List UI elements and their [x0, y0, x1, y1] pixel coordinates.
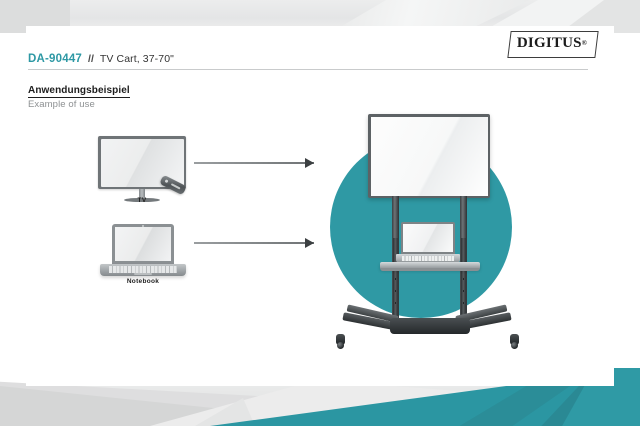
tv-label: TV [98, 197, 186, 204]
arrow-shaft [194, 242, 314, 244]
notebook-keyboard [109, 266, 177, 273]
cart-wheel-right [511, 342, 518, 349]
arrow-right-notebook [194, 238, 314, 248]
notebook-label: Notebook [100, 278, 186, 285]
notebook-screen [115, 227, 171, 261]
logo-name: DIGITUS [517, 35, 582, 52]
cart-base-hub [390, 318, 470, 334]
header-separator: // [88, 53, 94, 65]
notebook-trackpad [134, 273, 152, 275]
cart-notebook [396, 222, 460, 266]
cart-wheel-left [337, 342, 344, 349]
arrow-head-icon [305, 238, 314, 248]
trademark-symbol: ® [582, 40, 587, 47]
cart-mounted-tv [368, 114, 490, 198]
notebook-illustration: Notebook [100, 224, 186, 280]
product-name: TV Cart, 37-70" [100, 53, 174, 65]
header-divider [28, 69, 588, 70]
tv-cart-illustration [330, 110, 530, 360]
section-title-de: Anwendungsbeispiel [28, 85, 130, 98]
section-title-en: Example of use [28, 99, 95, 110]
tv-illustration: TV [98, 136, 186, 206]
slide-canvas: DIGITUS® DA-90447 // TV Cart, 37-70" Anw… [0, 0, 640, 426]
cart-shelf-lip [380, 268, 480, 271]
cart-tv-screen [371, 117, 488, 196]
arrow-shaft [194, 162, 314, 164]
notebook-webcam [142, 225, 144, 227]
arrow-right-tv [194, 158, 314, 168]
cart-notebook-keyboard [402, 256, 454, 261]
product-sku: DA-90447 [28, 53, 82, 65]
product-header: DA-90447 // TV Cart, 37-70" [28, 53, 588, 65]
cart-notebook-screen [403, 224, 453, 252]
arrow-head-icon [305, 158, 314, 168]
